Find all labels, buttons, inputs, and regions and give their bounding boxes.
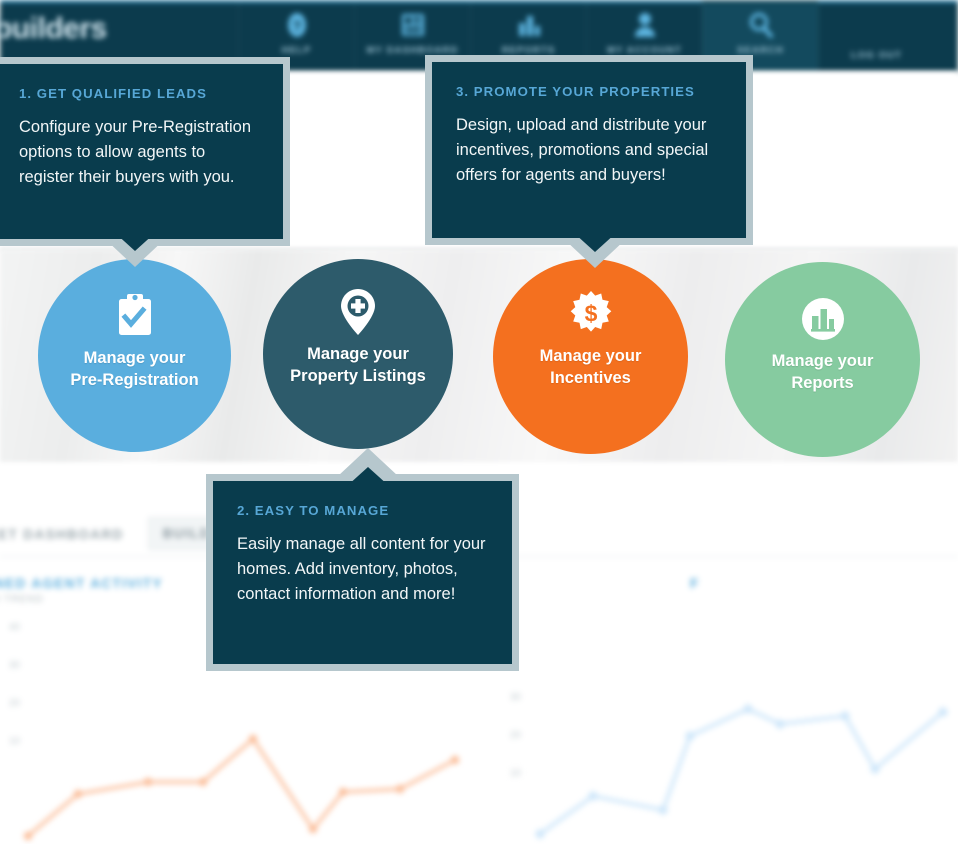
svg-text:$: $	[584, 301, 597, 327]
circle-2-line1: Manage your	[307, 345, 409, 363]
circle-3-label: Manage your Incentives	[540, 345, 642, 390]
circle-3-line1: Manage your	[540, 347, 642, 365]
tooltip-2-body: Easily manage all content for your homes…	[237, 532, 488, 607]
tooltip-2-arrow	[347, 467, 389, 486]
question-mark-icon: ?	[284, 8, 310, 42]
nav-label-help: HELP	[282, 45, 312, 56]
tooltip-3-arrow	[574, 233, 616, 252]
tooltip-3-title: 3. PROMOTE YOUR PROPERTIES	[456, 84, 722, 99]
circle-3-line2: Incentives	[550, 369, 631, 387]
feature-circles: Manage your Pre-Registration Manage your…	[0, 240, 958, 480]
bar-chart-icon	[515, 8, 543, 42]
site-logo[interactable]: builders	[0, 12, 107, 46]
tooltip-1-body: Configure your Pre-Registration options …	[19, 115, 259, 190]
circle-1-line1: Manage your	[84, 349, 186, 367]
chart-left-agent-activity	[24, 735, 459, 840]
circle-1-line2: Pre-Registration	[70, 371, 198, 389]
circle-4-line1: Manage your	[772, 352, 874, 370]
tooltip-1-inner: 1. GET QUALIFIED LEADS Configure your Pr…	[0, 64, 283, 216]
list-icon	[399, 8, 427, 42]
dollar-starburst-icon: $	[568, 291, 614, 337]
nav-label-log-out: LOG OUT	[851, 50, 902, 61]
svg-text:?: ?	[292, 18, 301, 35]
circle-4-label: Manage your Reports	[772, 350, 874, 395]
tooltip-3-inner: 3. PROMOTE YOUR PROPERTIES Design, uploa…	[432, 62, 746, 214]
tooltip-2-inner: 2. EASY TO MANAGE Easily manage all cont…	[213, 481, 512, 633]
tooltip-1-title: 1. GET QUALIFIED LEADS	[19, 86, 259, 101]
tooltip-2-title: 2. EASY TO MANAGE	[237, 503, 488, 518]
nav-item-log-out[interactable]: LOG OUT	[818, 0, 934, 72]
tooltip-get-qualified-leads[interactable]: 1. GET QUALIFIED LEADS Configure your Pr…	[0, 57, 290, 246]
circle-1-label: Manage your Pre-Registration	[70, 347, 198, 392]
circle-manage-reports[interactable]: Manage your Reports	[725, 262, 920, 457]
circle-manage-property-listings[interactable]: Manage your Property Listings	[263, 259, 453, 449]
bar-chart-circle-icon	[801, 296, 845, 342]
tab-market-dashboard[interactable]: MARKET DASHBOARD	[0, 519, 138, 550]
circle-manage-pre-registration[interactable]: Manage your Pre-Registration	[38, 259, 231, 452]
chart-right	[535, 704, 947, 838]
tooltip-easy-to-manage[interactable]: 2. EASY TO MANAGE Easily manage all cont…	[206, 474, 519, 671]
circle-manage-incentives[interactable]: $ Manage your Incentives	[493, 259, 688, 454]
tooltip-3-body: Design, upload and distribute your incen…	[456, 113, 722, 188]
clipboard-check-icon	[113, 293, 157, 339]
search-icon	[747, 8, 775, 42]
circle-2-label: Manage your Property Listings	[290, 343, 426, 388]
tooltip-promote-your-properties[interactable]: 3. PROMOTE YOUR PROPERTIES Design, uploa…	[425, 55, 753, 245]
map-pin-plus-icon	[337, 289, 379, 335]
tooltip-1-arrow	[114, 232, 156, 251]
person-icon	[631, 8, 659, 42]
circle-2-line2: Property Listings	[290, 367, 426, 385]
circle-4-line2: Reports	[791, 374, 853, 392]
